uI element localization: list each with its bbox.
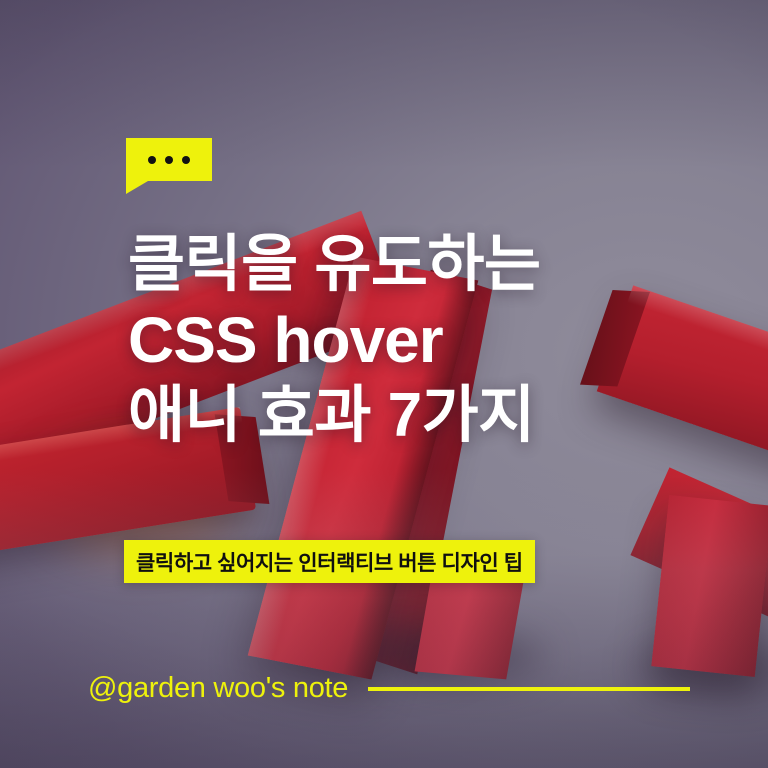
footer-handle-row: @garden woo's note: [88, 672, 690, 705]
headline-line-1: 클릭을 유도하는: [128, 228, 728, 302]
ellipsis-dots: [126, 138, 212, 181]
headline-line-2: CSS hover: [128, 302, 728, 378]
headline-line-3: 애니 효과 7가지: [128, 378, 728, 454]
social-card: 클릭을 유도하는 CSS hover 애니 효과 7가지 클릭하고 싶어지는 인…: [0, 0, 768, 768]
dot-icon: [148, 156, 156, 164]
handle-divider-rule: [368, 687, 690, 691]
subtitle-text: 클릭하고 싶어지는 인터랙티브 버튼 디자인 팁: [136, 547, 523, 577]
author-handle: @garden woo's note: [88, 672, 348, 705]
dot-icon: [182, 156, 190, 164]
speech-bubble-tail: [126, 181, 148, 194]
headline: 클릭을 유도하는 CSS hover 애니 효과 7가지: [128, 228, 728, 454]
card-content: 클릭을 유도하는 CSS hover 애니 효과 7가지 클릭하고 싶어지는 인…: [0, 0, 768, 768]
dot-icon: [165, 156, 173, 164]
subtitle-highlight-bar: 클릭하고 싶어지는 인터랙티브 버튼 디자인 팁: [124, 540, 535, 583]
ellipsis-speech-bubble-icon: [126, 138, 212, 181]
